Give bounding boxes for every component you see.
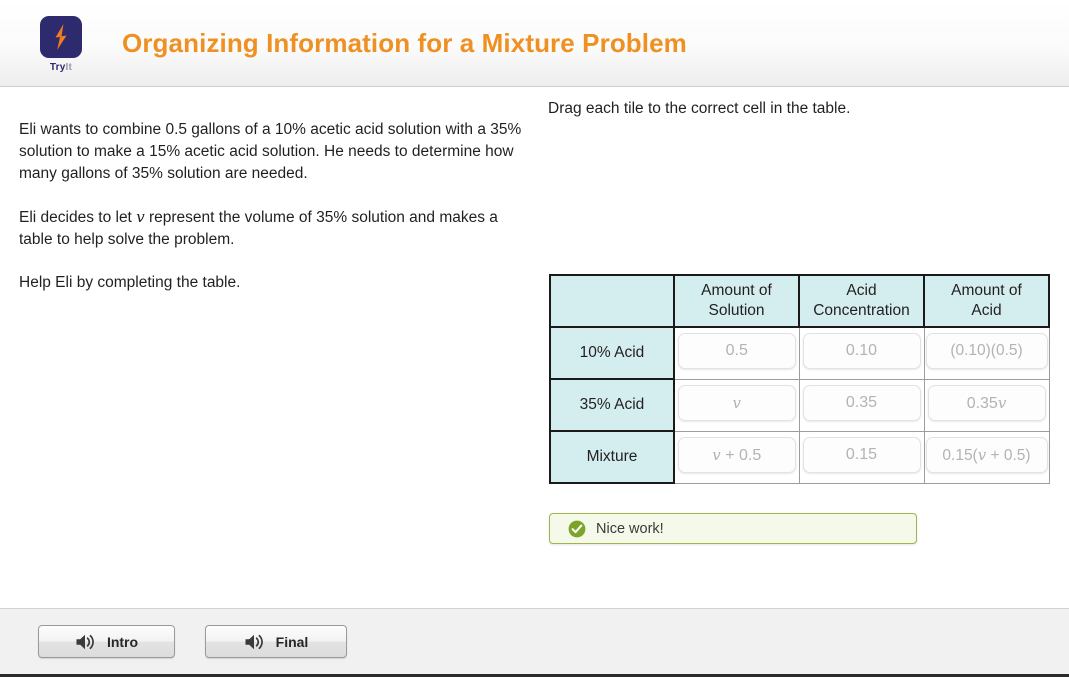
column-header-amount-of-acid: Amount of Acid [924, 275, 1049, 327]
check-circle-icon [568, 520, 586, 538]
paragraph-2-text-before: Eli decides to let [19, 209, 136, 226]
tile-0-2[interactable]: (0.10)(0.5) [926, 333, 1048, 369]
lightning-bolt-icon [40, 16, 82, 58]
row-label-35-percent-acid: 35% Acid [550, 379, 674, 431]
logo-caption-bold: Try [50, 62, 66, 73]
drop-cell[interactable]: (0.10)(0.5) [924, 327, 1049, 379]
page-content: Eli wants to combine 0.5 gallons of a 10… [0, 87, 1069, 608]
tile-1-1[interactable]: 0.35 [803, 385, 921, 421]
tile-variable-v: v [998, 394, 1006, 412]
activity-page: TryIt Organizing Information for a Mixtu… [0, 0, 1069, 677]
row-label-mixture: Mixture [550, 431, 674, 483]
problem-paragraph-1: Eli wants to combine 0.5 gallons of a 10… [19, 119, 531, 185]
row-label-10-percent-acid: 10% Acid [550, 327, 674, 379]
problem-statement: Eli wants to combine 0.5 gallons of a 10… [19, 119, 531, 294]
table-row: 10% Acid 0.5 0.10 (0.10)(0.5) [550, 327, 1049, 379]
table-corner-cell [550, 275, 674, 327]
column-header-line2: Solution [675, 301, 798, 321]
column-header-line1: Amount of [925, 281, 1048, 301]
column-header-line2: Acid [925, 301, 1048, 321]
speaker-icon [244, 633, 266, 651]
tile-2-1[interactable]: 0.15 [803, 437, 921, 473]
tile-2-0[interactable]: v + 0.5 [678, 437, 796, 473]
table-header-row: Amount of Solution Acid Concentration Am… [550, 275, 1049, 327]
tile-2-2[interactable]: 0.15(v + 0.5) [926, 437, 1048, 473]
drag-instruction: Drag each tile to the correct cell in th… [548, 100, 850, 118]
tile-0-1[interactable]: 0.10 [803, 333, 921, 369]
drop-cell[interactable]: v [674, 379, 799, 431]
page-footer: Intro Final [0, 608, 1069, 677]
tile-0-0[interactable]: 0.5 [678, 333, 796, 369]
speaker-icon [75, 633, 97, 651]
table-row: Mixture v + 0.5 0.15 0.15(v + 0.5) [550, 431, 1049, 483]
problem-paragraph-2: Eli decides to let v represent the volum… [19, 206, 531, 251]
table-row: 35% Acid v 0.35 0.35v [550, 379, 1049, 431]
final-audio-button[interactable]: Final [205, 625, 347, 658]
column-header-acid-concentration: Acid Concentration [799, 275, 924, 327]
problem-paragraph-3: Help Eli by completing the table. [19, 272, 531, 294]
drop-cell[interactable]: v + 0.5 [674, 431, 799, 483]
column-header-line2: Concentration [800, 301, 923, 321]
tile-variable-v: v [712, 446, 720, 464]
tile-variable-v: v [978, 446, 986, 464]
column-header-line1: Acid [800, 281, 923, 301]
page-header: TryIt Organizing Information for a Mixtu… [0, 0, 1069, 87]
drop-cell[interactable]: 0.10 [799, 327, 924, 379]
intro-audio-button[interactable]: Intro [38, 625, 175, 658]
variable-v: v [136, 208, 144, 226]
feedback-banner: Nice work! [549, 513, 917, 544]
try-it-logo: TryIt [0, 0, 122, 87]
drop-cell[interactable]: 0.15(v + 0.5) [924, 431, 1049, 483]
intro-audio-label: Intro [107, 634, 138, 650]
mixture-table: Amount of Solution Acid Concentration Am… [549, 274, 1050, 484]
tile-variable-v: v [733, 394, 741, 412]
drop-cell[interactable]: 0.5 [674, 327, 799, 379]
tile-1-2[interactable]: 0.35v [928, 385, 1046, 421]
column-header-line1: Amount of [675, 281, 798, 301]
tile-1-0[interactable]: v [678, 385, 796, 421]
drop-cell[interactable]: 0.35 [799, 379, 924, 431]
drop-cell[interactable]: 0.15 [799, 431, 924, 483]
logo-caption: TryIt [50, 62, 72, 73]
column-header-amount-of-solution: Amount of Solution [674, 275, 799, 327]
logo-caption-light: It [66, 62, 73, 73]
feedback-message: Nice work! [596, 521, 664, 537]
final-audio-label: Final [276, 634, 309, 650]
interactive-pane: Drag each tile to the correct cell in th… [548, 87, 1058, 608]
drop-cell[interactable]: 0.35v [924, 379, 1049, 431]
page-title: Organizing Information for a Mixture Pro… [122, 28, 687, 59]
